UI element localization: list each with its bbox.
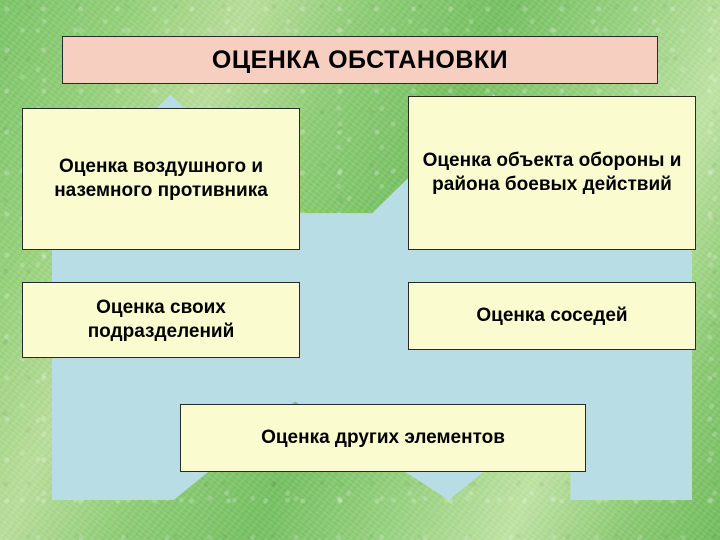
diagram-title: ОЦЕНКА ОБСТАНОВКИ: [62, 36, 658, 84]
box-own-units: Оценка своих подразделений: [22, 282, 300, 358]
box-defense-object: Оценка объекта обороны и района боевых д…: [408, 96, 696, 250]
box-air-ground-enemy: Оценка воздушного и наземного противника: [22, 108, 300, 250]
box-neighbors: Оценка соседей: [408, 282, 696, 350]
slide-canvas: ОЦЕНКА ОБСТАНОВКИ Оценка воздушного и на…: [0, 0, 720, 540]
box-other-elements: Оценка других элементов: [180, 404, 586, 472]
